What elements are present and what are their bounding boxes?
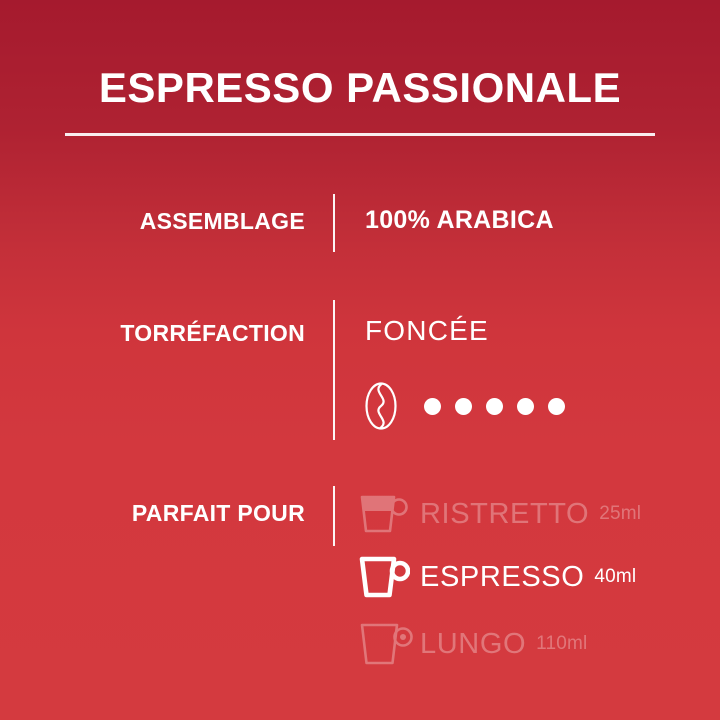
coffee-bean-icon xyxy=(362,381,400,431)
intensity-dot xyxy=(455,398,472,415)
drink-volume: 110ml xyxy=(536,633,587,655)
espresso-cup-icon xyxy=(358,555,420,599)
row-divider-perfect-for xyxy=(333,486,335,546)
spec-label-torrefaction: TORRÉFACTION xyxy=(40,320,305,347)
spec-value-roast-level: FONCÉE xyxy=(365,315,489,347)
row-divider-torrefaction xyxy=(333,300,335,440)
drink-volume: 25ml xyxy=(599,503,641,525)
drink-option-ristretto[interactable]: RISTRETTO 25ml xyxy=(358,493,641,535)
intensity-dot xyxy=(486,398,503,415)
drink-volume: 40ml xyxy=(594,566,636,588)
roast-intensity-meter xyxy=(362,381,565,431)
spec-label-perfect-for: PARFAIT POUR xyxy=(40,500,305,527)
title-divider xyxy=(65,133,655,136)
intensity-dot xyxy=(548,398,565,415)
drink-option-espresso[interactable]: ESPRESSO 40ml xyxy=(358,555,636,599)
drink-name: RISTRETTO xyxy=(420,498,589,531)
page-title: ESPRESSO PASSIONALE xyxy=(0,66,720,110)
drink-name: LUNGO xyxy=(420,628,526,661)
spec-value-assemblage: 100% ARABICA xyxy=(365,206,554,235)
intensity-dot xyxy=(517,398,534,415)
intensity-dot xyxy=(424,398,441,415)
intensity-dots xyxy=(424,398,565,415)
drink-name: ESPRESSO xyxy=(420,561,584,594)
drink-option-lungo[interactable]: LUNGO 110ml xyxy=(358,620,587,668)
spec-label-assemblage: ASSEMBLAGE xyxy=(40,208,305,235)
lungo-cup-icon xyxy=(358,620,420,668)
product-spec-card: ESPRESSO PASSIONALE ASSEMBLAGE 100% ARAB… xyxy=(0,0,720,720)
row-divider-assemblage xyxy=(333,194,335,252)
ristretto-cup-icon xyxy=(358,493,420,535)
